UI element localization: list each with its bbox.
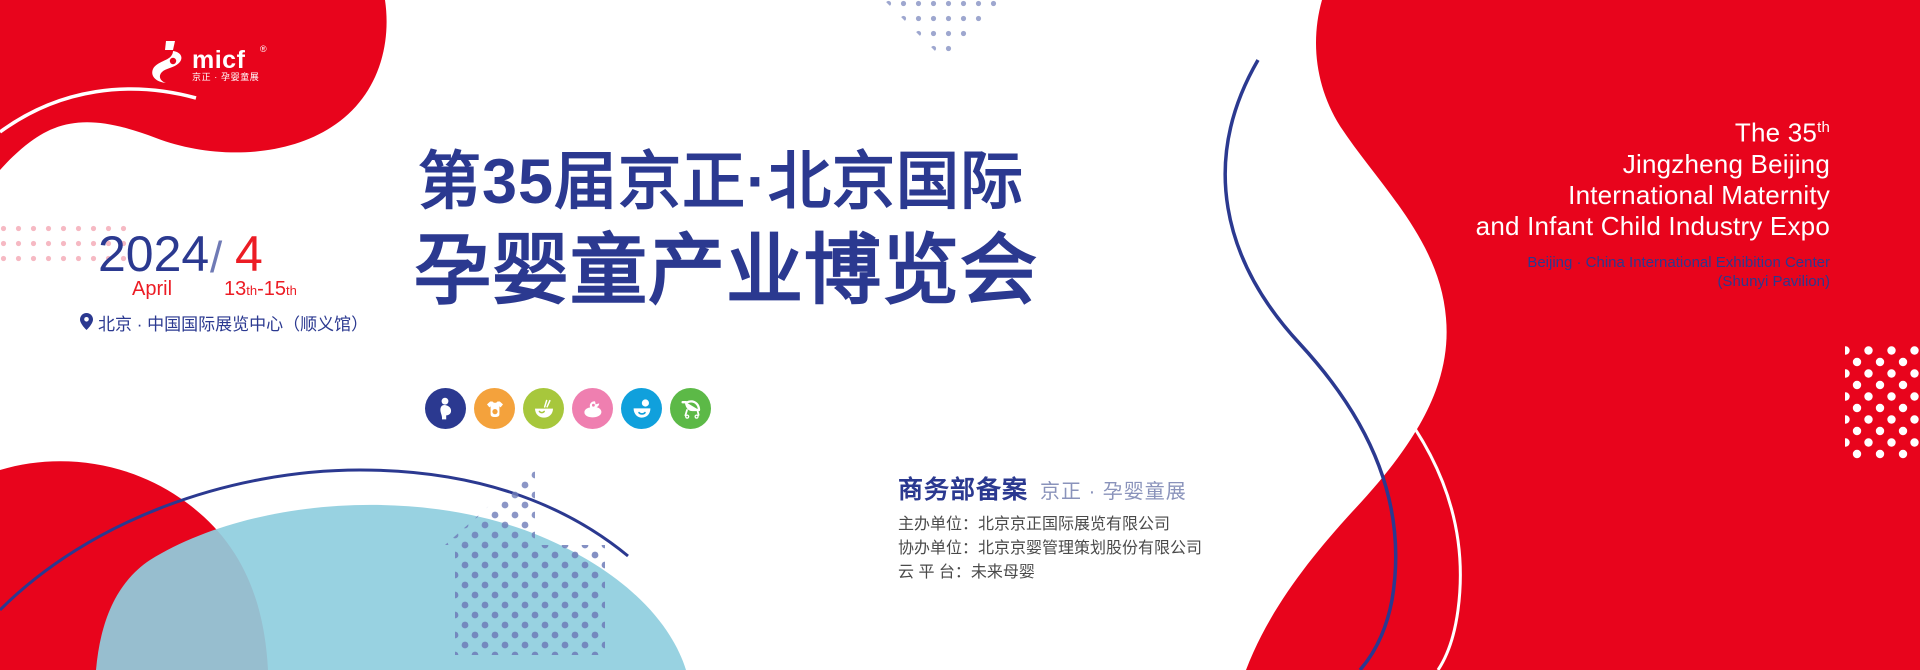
day-dash: - xyxy=(257,278,264,300)
english-venue-line-2: (Shunyi Pavilion) xyxy=(1350,272,1830,291)
english-line-1-suffix: th xyxy=(1817,119,1830,136)
organizer-heading: 商务部备案 京正 · 孕婴童展 xyxy=(898,470,1318,506)
english-venue-block: Beijing · China International Exhibition… xyxy=(1350,253,1830,291)
svg-text:micf: micf xyxy=(192,46,246,74)
english-line-2: Jingzheng Beijing xyxy=(1350,149,1830,180)
duck-toy-icon[interactable] xyxy=(572,388,613,429)
organizer-row: 主办单位：北京京正国际展览有限公司 xyxy=(898,513,1318,537)
date-separator: / xyxy=(210,232,222,284)
organizer-value: 北京京婴管理策划股份有限公司 xyxy=(978,540,1202,557)
english-line-1: The 35th xyxy=(1350,112,1830,149)
organizer-label: 主办单位： xyxy=(898,516,978,533)
title-line-1: 第35届京正·北京国际 xyxy=(418,147,1024,217)
baby-stroller-icon[interactable] xyxy=(670,388,711,429)
venue-text-cn: 北京 · 中国国际展览中心（顺义馆） xyxy=(98,310,368,335)
english-venue-line-1: Beijing · China International Exhibition… xyxy=(1350,253,1830,272)
category-icon-row xyxy=(425,388,711,429)
navy-dot-triangle-top xyxy=(884,0,1004,60)
white-dot-grid-right xyxy=(1840,340,1920,465)
baby-food-bowl-icon[interactable] xyxy=(523,388,564,429)
date-venue-block: 2024 / 4 April 13th-15th 北京 · 中国国际展览中心（顺… xyxy=(80,228,370,338)
day-start-suffix: th xyxy=(246,283,257,298)
navy-dot-grid-bottom-left xyxy=(0,640,60,670)
organizer-heading-sub: 京正 · 孕婴童展 xyxy=(1040,475,1187,504)
day-range: 13th-15th xyxy=(224,278,297,302)
pregnant-woman-icon[interactable] xyxy=(425,388,466,429)
month-number: 4 xyxy=(235,228,263,280)
svg-text:®: ® xyxy=(260,44,267,54)
month-name: April xyxy=(132,278,172,300)
day-end: 15 xyxy=(264,278,286,300)
micf-flame-logo-icon: micf ® 京正 · 孕婴童展 xyxy=(148,38,278,84)
periwinkle-dot-grid-bottom xyxy=(445,465,605,655)
micf-logo: micf ® 京正 · 孕婴童展 xyxy=(148,38,278,84)
english-line-1-text: The 35 xyxy=(1735,118,1817,148)
svg-text:京正 · 孕婴童展: 京正 · 孕婴童展 xyxy=(192,71,259,82)
baby-onesie-icon[interactable] xyxy=(474,388,515,429)
organizer-block: 商务部备案 京正 · 孕婴童展 主办单位：北京京正国际展览有限公司 协办单位：北… xyxy=(898,470,1318,585)
day-start: 13 xyxy=(224,278,246,300)
organizer-label: 协办单位： xyxy=(898,540,978,557)
venue-line-cn: 北京 · 中国国际展览中心（顺义馆） xyxy=(80,310,368,335)
organizer-row: 协办单位：北京京婴管理策划股份有限公司 xyxy=(898,537,1318,561)
english-line-3: International Maternity xyxy=(1350,180,1830,211)
title-line-2: 孕婴童产业博览会 xyxy=(414,228,1038,314)
organizer-value: 未来母婴 xyxy=(971,564,1035,581)
year-text: 2024 xyxy=(98,228,209,280)
baby-face-icon[interactable] xyxy=(621,388,662,429)
organizer-row: 云 平 台：未来母婴 xyxy=(898,561,1318,585)
english-line-4: and Infant Child Industry Expo xyxy=(1350,211,1830,242)
organizer-value: 北京京正国际展览有限公司 xyxy=(978,516,1170,533)
exhibition-banner: micf ® 京正 · 孕婴童展 2024 / 4 April 13th-15t… xyxy=(0,0,1920,670)
top-left-red-blob xyxy=(0,0,387,170)
day-end-suffix: th xyxy=(286,283,297,298)
location-pin-icon xyxy=(80,313,93,333)
english-title-block: The 35th Jingzheng Beijing International… xyxy=(1350,112,1830,291)
organizer-label: 云 平 台： xyxy=(898,564,971,581)
organizer-heading-main: 商务部备案 xyxy=(898,470,1028,506)
